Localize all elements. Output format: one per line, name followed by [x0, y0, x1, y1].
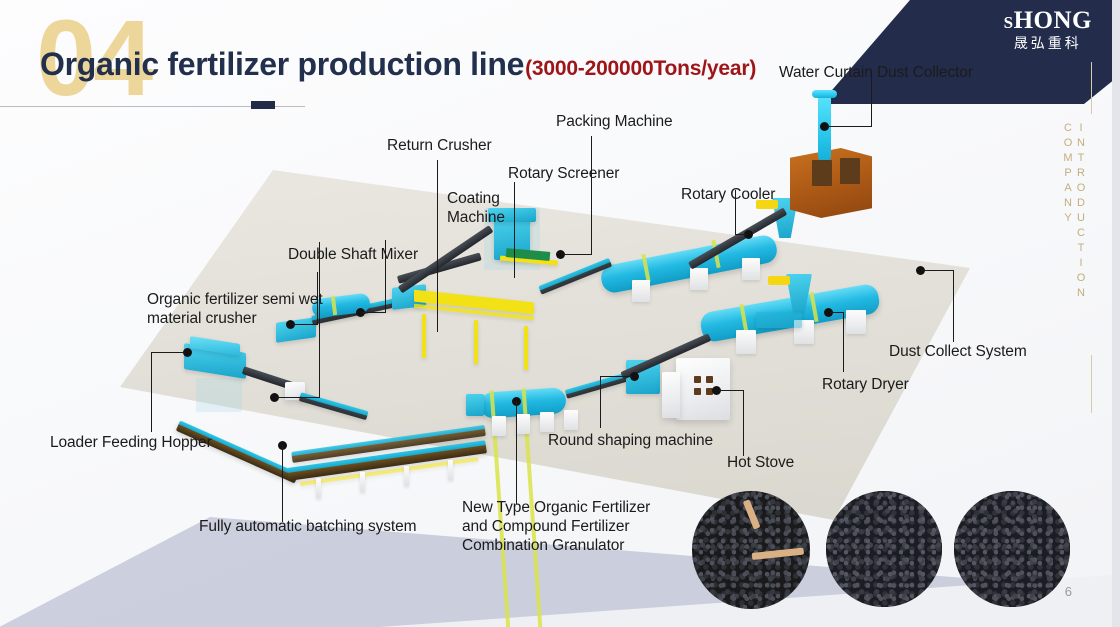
dust-collect-duct-lower	[768, 276, 790, 285]
rotary-cooler-support-3	[742, 258, 760, 280]
label-round-shaping-machine: Round shaping machine	[548, 432, 713, 451]
hot-stove-vent-1	[694, 376, 701, 383]
leader-batching-v	[282, 445, 283, 522]
company-logo: SHONG 晟弘重科	[1004, 8, 1092, 51]
page-number: 6	[1065, 584, 1072, 599]
leader-packing-v	[591, 136, 592, 255]
leader-loader-v	[151, 352, 152, 432]
leader-screener-v	[514, 182, 515, 278]
rotary-dryer-support-1	[736, 330, 756, 354]
leader-cooler-h	[735, 234, 747, 235]
leader-semiwet-h	[276, 397, 320, 398]
leader-return-crusher-v	[437, 160, 438, 332]
granule-photo-1	[692, 491, 810, 609]
batching-leg-2	[360, 472, 365, 492]
leader-granulator-v	[516, 401, 517, 504]
rotary-cooler-support-1	[632, 280, 650, 302]
label-dust-collect-system: Dust Collect System	[889, 343, 1027, 362]
leader-shaping-h	[600, 376, 632, 377]
batching-leg-4	[448, 460, 453, 480]
hot-stove	[676, 358, 730, 420]
label-packing-machine: Packing Machine	[556, 113, 673, 132]
granulator-support-1	[492, 416, 506, 436]
label-rotary-dryer: Rotary Dryer	[822, 376, 909, 395]
batching-leg-1	[316, 478, 321, 498]
center-platform-leg-1	[422, 314, 426, 358]
label-rotary-screener: Rotary Screener	[508, 165, 619, 184]
label-double-shaft-mixer: Double Shaft Mixer	[288, 246, 418, 265]
center-platform-leg-3	[524, 326, 528, 370]
hot-stove-annex	[662, 372, 680, 418]
leader-dryer-v	[843, 312, 844, 372]
logo-wordmark: SHONG	[1004, 8, 1092, 33]
granulator-drive	[466, 394, 484, 416]
sidebar-line-company: COMPANY	[1062, 122, 1073, 302]
granule-photo-2	[826, 491, 942, 607]
logo-rest: HONG	[1014, 7, 1092, 34]
page-title: Organic fertilizer production line	[40, 46, 524, 83]
granulator-support-3	[540, 412, 554, 432]
water-curtain-cap	[812, 90, 837, 98]
rotary-dryer-support-3	[846, 310, 866, 334]
center-platform-leg-2	[474, 320, 478, 364]
label-rotary-cooler: Rotary Cooler	[681, 186, 775, 205]
brick-building-slot-1	[812, 160, 832, 186]
leader-coating-h	[362, 312, 386, 313]
heading-row: Organic fertilizer production line (3000…	[40, 46, 756, 83]
rotary-cooler-support-2	[690, 268, 708, 290]
rail-line-top	[1091, 62, 1092, 114]
label-hot-stove: Hot Stove	[727, 454, 794, 473]
brick-building-slot-2	[840, 158, 860, 184]
rail-line-bottom	[1091, 355, 1092, 413]
right-edge-strip	[1112, 0, 1120, 627]
label-water-curtain-dust-collector: Water Curtain Dust Collector	[779, 64, 973, 83]
leader-dust-h	[922, 270, 954, 271]
granule-photo-3	[954, 491, 1070, 607]
leader-shaping-v	[600, 376, 601, 428]
leader-hotstove-v	[743, 390, 744, 456]
sidebar-line-introduction: INTRODUCTION	[1075, 122, 1086, 302]
hopper-ghost	[196, 378, 242, 412]
batching-leg-3	[404, 466, 409, 486]
hot-stove-vent-2	[706, 376, 713, 383]
leader-packing-h	[562, 254, 592, 255]
leader-dryer-h	[830, 312, 844, 313]
leader-loader-h	[151, 352, 185, 353]
leader-water-curtain-h	[826, 126, 872, 127]
logo-initial: S	[1004, 13, 1014, 32]
granulator-support-4	[564, 410, 578, 430]
hot-stove-vent-3	[694, 388, 701, 395]
leader-dust-v	[953, 270, 954, 342]
granulator-support-2	[516, 414, 530, 434]
granule-texture-3	[954, 491, 1070, 607]
label-loader-feeding-hopper: Loader Feeding Hopper	[50, 434, 212, 453]
logo-chinese-name: 晟弘重科	[1004, 37, 1092, 51]
label-combination-granulator: New Type Organic Fertilizer and Compound…	[462, 499, 650, 556]
slide-root: SHONG 晟弘重科 04 Organic fertilizer product…	[0, 0, 1120, 627]
label-fully-automatic-batching-system: Fully automatic batching system	[199, 518, 416, 537]
dust-collect-frame	[756, 312, 802, 328]
granule-texture-2	[826, 491, 942, 607]
label-return-crusher: Return Crusher	[387, 137, 492, 156]
leader-hotstove-h	[718, 390, 744, 391]
capacity-subtitle: (3000-200000Tons/year)	[525, 57, 756, 81]
label-semi-wet-material-crusher: Organic fertilizer semi wet material cru…	[147, 291, 323, 329]
label-coating-machine: Coating Machine	[447, 190, 505, 228]
